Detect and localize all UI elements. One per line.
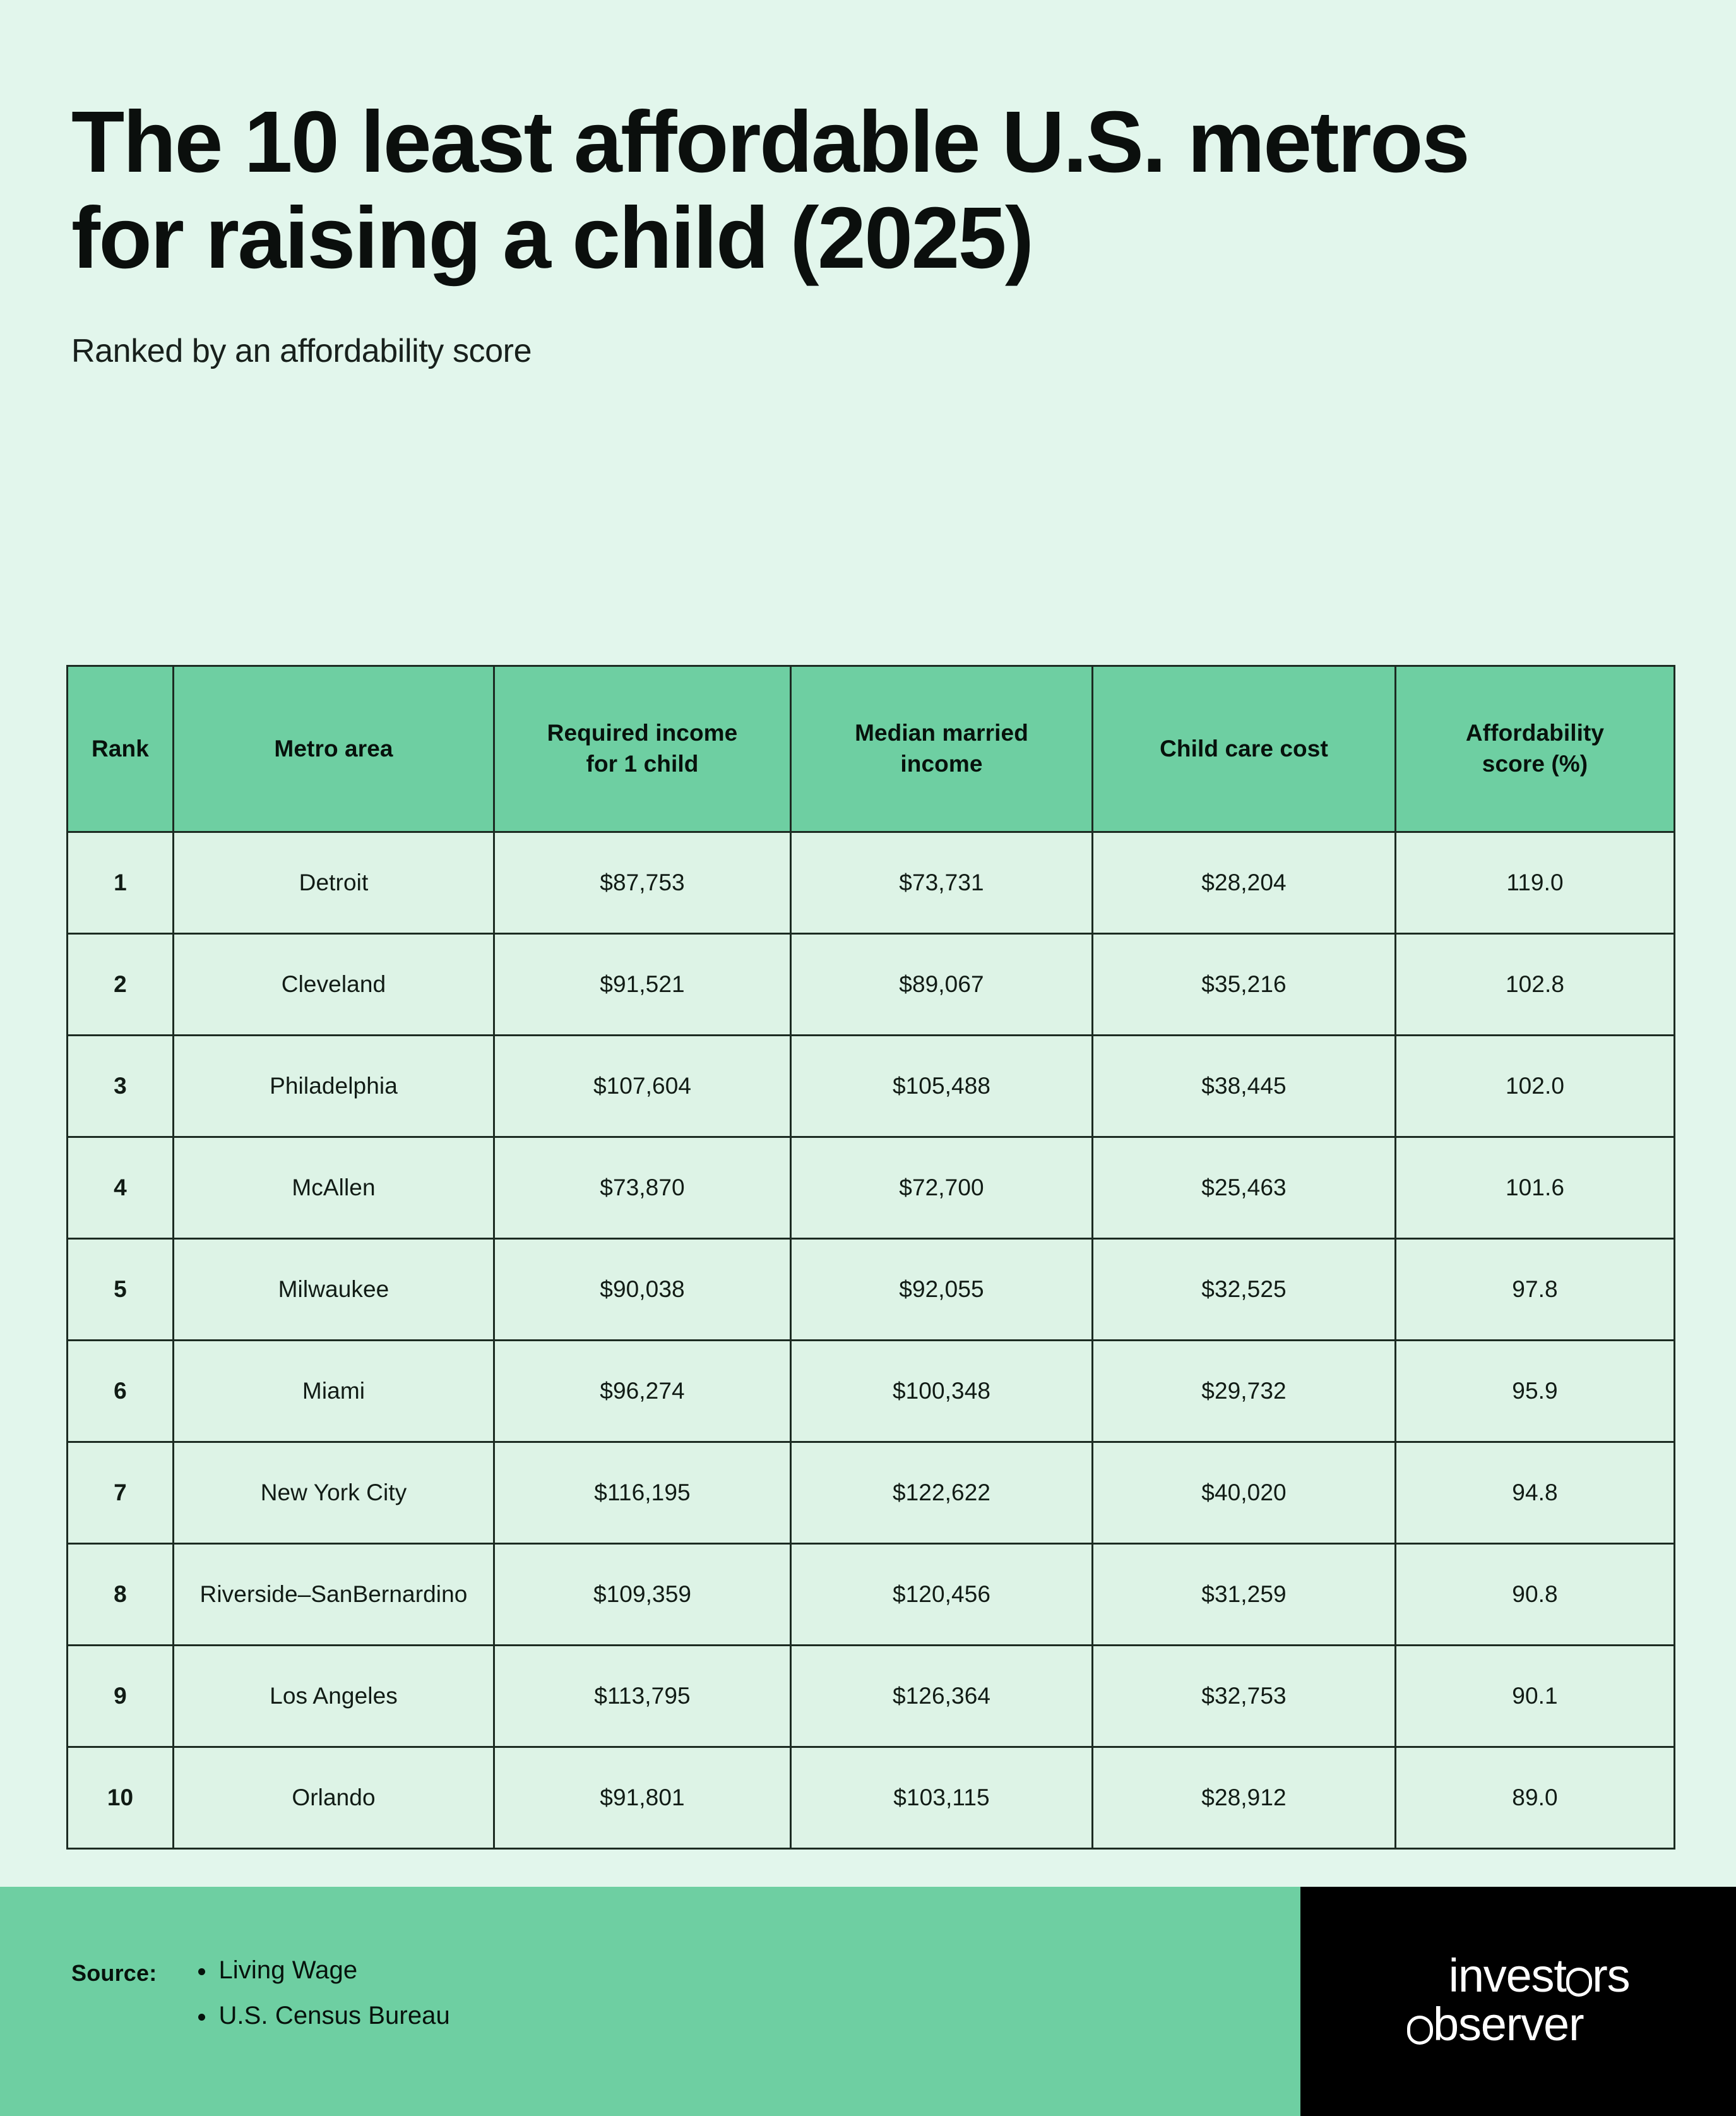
cell-affordability-score: 101.6: [1396, 1137, 1675, 1239]
cell-child-care-cost: $32,525: [1093, 1239, 1396, 1341]
brand-logo-investors-suffix: rs: [1592, 1949, 1629, 2002]
cell-required-income: $113,795: [494, 1646, 791, 1747]
cell-affordability-score: 90.8: [1396, 1544, 1675, 1646]
source-item: Living Wage: [198, 1958, 449, 1983]
cell-metro: Philadelphia: [174, 1036, 494, 1137]
cell-child-care-cost: $28,204: [1093, 832, 1396, 934]
cell-median-married-income: $72,700: [791, 1137, 1093, 1239]
table-head: Rank Metro area Required income for 1 ch…: [68, 666, 1675, 832]
cell-metro: Milwaukee: [174, 1239, 494, 1341]
cell-required-income: $91,521: [494, 934, 791, 1036]
brand-logo-line-2: bserver: [1407, 2000, 1630, 2048]
cell-median-married-income: $103,115: [791, 1747, 1093, 1849]
column-header-rank: Rank: [68, 666, 174, 832]
cell-rank: 3: [68, 1036, 174, 1137]
cell-required-income: $96,274: [494, 1341, 791, 1442]
column-header-required-income-line2: for 1 child: [586, 751, 699, 777]
cell-affordability-score: 89.0: [1396, 1747, 1675, 1849]
column-header-child-care-cost-label: Child care cost: [1160, 736, 1328, 762]
cell-rank: 10: [68, 1747, 174, 1849]
table-row: 1 Detroit $87,753 $73,731 $28,204 119.0: [68, 832, 1675, 934]
cell-affordability-score: 102.0: [1396, 1036, 1675, 1137]
source-label: Source:: [71, 1958, 157, 1987]
table-row: 6 Miami $96,274 $100,348 $29,732 95.9: [68, 1341, 1675, 1442]
cell-rank: 5: [68, 1239, 174, 1341]
cell-median-married-income: $73,731: [791, 832, 1093, 934]
brand-logo: investrs bserver: [1407, 1952, 1630, 2050]
table-header-row: Rank Metro area Required income for 1 ch…: [68, 666, 1675, 832]
cell-child-care-cost: $29,732: [1093, 1341, 1396, 1442]
cell-rank: 4: [68, 1137, 174, 1239]
brand-logo-observer-suffix: bserver: [1433, 1998, 1583, 2050]
cell-metro: Riverside–SanBernardino: [174, 1544, 494, 1646]
split-circle-o-icon: [1566, 1968, 1592, 1997]
split-circle-o-icon: [1407, 2016, 1433, 2045]
cell-rank: 8: [68, 1544, 174, 1646]
table-row: 9 Los Angeles $113,795 $126,364 $32,753 …: [68, 1646, 1675, 1747]
table-row: 5 Milwaukee $90,038 $92,055 $32,525 97.8: [68, 1239, 1675, 1341]
column-header-median-married-income-line2: income: [900, 751, 982, 777]
cell-child-care-cost: $25,463: [1093, 1137, 1396, 1239]
cell-required-income: $116,195: [494, 1442, 791, 1544]
cell-median-married-income: $105,488: [791, 1036, 1093, 1137]
cell-metro: Miami: [174, 1341, 494, 1442]
cell-metro: New York City: [174, 1442, 494, 1544]
table-row: 10 Orlando $91,801 $103,115 $28,912 89.0: [68, 1747, 1675, 1849]
cell-child-care-cost: $35,216: [1093, 934, 1396, 1036]
cell-rank: 9: [68, 1646, 174, 1747]
brand-logo-line-1: investrs: [1407, 1952, 1630, 2000]
cell-child-care-cost: $38,445: [1093, 1036, 1396, 1137]
cell-required-income: $87,753: [494, 832, 791, 934]
column-header-child-care-cost: Child care cost: [1093, 666, 1396, 832]
cell-median-married-income: $126,364: [791, 1646, 1093, 1747]
column-header-median-married-income: Median married income: [791, 666, 1093, 832]
column-header-required-income-line1: Required income: [547, 720, 738, 746]
cell-affordability-score: 97.8: [1396, 1239, 1675, 1341]
column-header-required-income: Required income for 1 child: [494, 666, 791, 832]
column-header-affordability-score: Affordability score (%): [1396, 666, 1675, 832]
brand-logo-investors-prefix: invest: [1449, 1949, 1566, 2002]
cell-median-married-income: $120,456: [791, 1544, 1093, 1646]
column-header-median-married-income-line1: Median married: [855, 720, 1028, 746]
brand-logo-block: investrs bserver: [1300, 1887, 1736, 2116]
cell-rank: 7: [68, 1442, 174, 1544]
cell-required-income: $109,359: [494, 1544, 791, 1646]
cell-median-married-income: $100,348: [791, 1341, 1093, 1442]
affordability-table: Rank Metro area Required income for 1 ch…: [66, 665, 1675, 1850]
infographic-page: The 10 least affordable U.S. metros for …: [0, 0, 1736, 2116]
cell-required-income: $91,801: [494, 1747, 791, 1849]
cell-affordability-score: 119.0: [1396, 832, 1675, 934]
cell-affordability-score: 95.9: [1396, 1341, 1675, 1442]
source-section: Source: Living Wage U.S. Census Bureau: [71, 1958, 450, 2048]
cell-metro: Cleveland: [174, 934, 494, 1036]
cell-child-care-cost: $40,020: [1093, 1442, 1396, 1544]
page-title: The 10 least affordable U.S. metros for …: [71, 95, 1511, 287]
footer-band: Source: Living Wage U.S. Census Bureau i…: [0, 1887, 1736, 2116]
table-row: 3 Philadelphia $107,604 $105,488 $38,445…: [68, 1036, 1675, 1137]
cell-median-married-income: $89,067: [791, 934, 1093, 1036]
cell-median-married-income: $122,622: [791, 1442, 1093, 1544]
table-body: 1 Detroit $87,753 $73,731 $28,204 119.0 …: [68, 832, 1675, 1849]
cell-rank: 1: [68, 832, 174, 934]
source-list: Living Wage U.S. Census Bureau: [157, 1958, 449, 2048]
cell-rank: 6: [68, 1341, 174, 1442]
cell-child-care-cost: $28,912: [1093, 1747, 1396, 1849]
column-header-affordability-score-line1: Affordability: [1466, 720, 1604, 746]
cell-child-care-cost: $32,753: [1093, 1646, 1396, 1747]
cell-affordability-score: 94.8: [1396, 1442, 1675, 1544]
column-header-metro-area-label: Metro area: [274, 736, 393, 762]
cell-affordability-score: 90.1: [1396, 1646, 1675, 1747]
cell-affordability-score: 102.8: [1396, 934, 1675, 1036]
data-table-wrapper: Rank Metro area Required income for 1 ch…: [66, 665, 1674, 1850]
table-row: 7 New York City $116,195 $122,622 $40,02…: [68, 1442, 1675, 1544]
cell-metro: McAllen: [174, 1137, 494, 1239]
cell-metro: Detroit: [174, 832, 494, 934]
column-header-affordability-score-line2: score (%): [1482, 751, 1588, 777]
cell-rank: 2: [68, 934, 174, 1036]
cell-metro: Orlando: [174, 1747, 494, 1849]
column-header-metro-area: Metro area: [174, 666, 494, 832]
source-item: U.S. Census Bureau: [198, 2003, 449, 2028]
cell-metro: Los Angeles: [174, 1646, 494, 1747]
header: The 10 least affordable U.S. metros for …: [71, 95, 1586, 370]
column-header-rank-label: Rank: [92, 736, 149, 762]
cell-child-care-cost: $31,259: [1093, 1544, 1396, 1646]
cell-required-income: $90,038: [494, 1239, 791, 1341]
table-row: 2 Cleveland $91,521 $89,067 $35,216 102.…: [68, 934, 1675, 1036]
cell-required-income: $73,870: [494, 1137, 791, 1239]
table-row: 8 Riverside–SanBernardino $109,359 $120,…: [68, 1544, 1675, 1646]
table-row: 4 McAllen $73,870 $72,700 $25,463 101.6: [68, 1137, 1675, 1239]
cell-median-married-income: $92,055: [791, 1239, 1093, 1341]
cell-required-income: $107,604: [494, 1036, 791, 1137]
page-subtitle: Ranked by an affordability score: [71, 287, 1586, 370]
